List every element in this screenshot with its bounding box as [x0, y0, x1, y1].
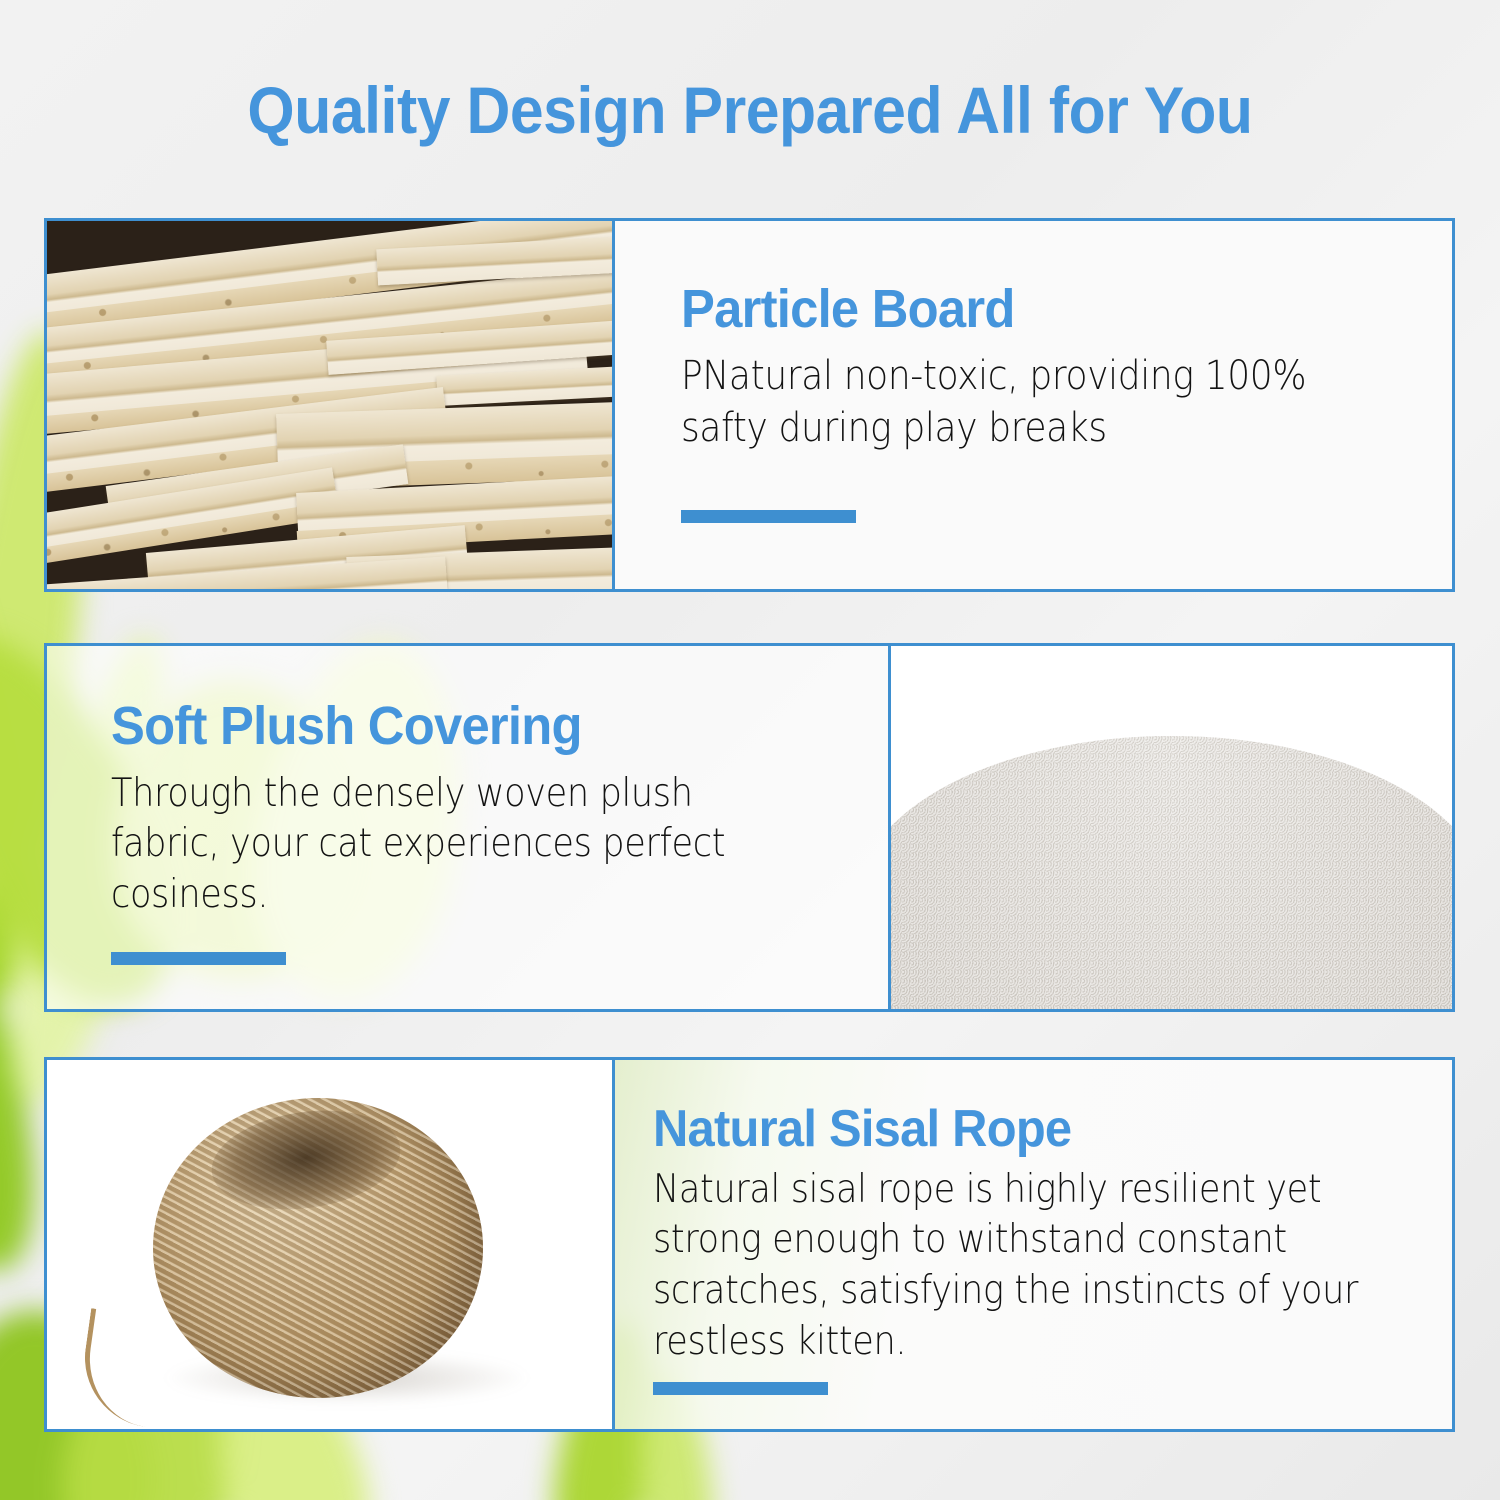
accent-bar-sisal-rope: [653, 1382, 828, 1395]
particle-board-text-pane: Particle Board PNatural non-toxic, provi…: [612, 221, 1452, 589]
sisal-rope-image: [47, 1060, 612, 1429]
card-body-sisal-rope: Natural sisal rope is highly resilient y…: [653, 1165, 1372, 1368]
feature-card-plush-covering: Soft Plush Covering Through the densely …: [44, 643, 1455, 1012]
sisal-rope-text-pane: Natural Sisal Rope Natural sisal rope is…: [612, 1060, 1452, 1429]
accent-bar-particle-board: [681, 510, 856, 523]
card-title-plush-covering: Soft Plush Covering: [111, 698, 841, 755]
card-body-particle-board: PNatural non-toxic, providing 100% safty…: [681, 350, 1375, 454]
plush-fabric-artwork: [891, 646, 1452, 1009]
plush-covering-text-pane: Soft Plush Covering Through the densely …: [47, 646, 888, 1009]
sisal-rope-artwork: [47, 1060, 612, 1429]
particle-board-artwork: [47, 221, 612, 589]
plush-fabric-image: [888, 646, 1452, 1009]
page-title: Quality Design Prepared All for You: [60, 72, 1440, 148]
card-body-plush-covering: Through the densely woven plush fabric, …: [111, 769, 810, 921]
infographic-page: Quality Design Prepared All for You: [0, 0, 1500, 1500]
feature-card-sisal-rope: Natural Sisal Rope Natural sisal rope is…: [44, 1057, 1455, 1432]
particle-board-image: [47, 221, 612, 589]
accent-bar-plush-covering: [111, 952, 286, 965]
feature-card-particle-board: Particle Board PNatural non-toxic, provi…: [44, 218, 1455, 592]
card-title-particle-board: Particle Board: [681, 281, 1406, 338]
card-title-sisal-rope: Natural Sisal Rope: [653, 1102, 1404, 1157]
